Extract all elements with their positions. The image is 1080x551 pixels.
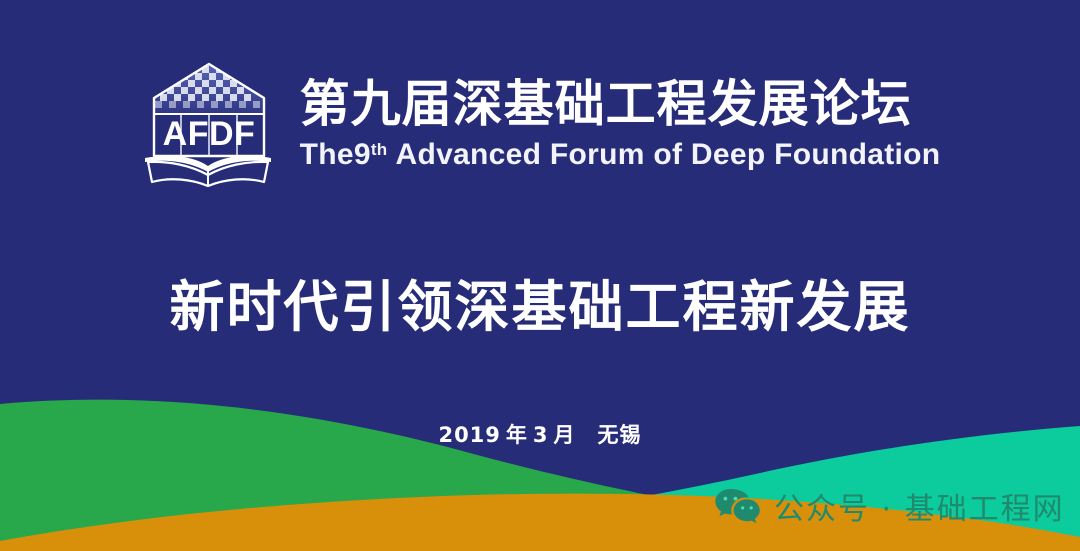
event-title-english-lead: The9 [300,139,371,171]
conference-poster: AFDF 第九届深基础工程发展论坛 The9thAdvanced Forum o… [0,0,1080,551]
wechat-watermark: 公众号 · 基础工程网 [714,484,1065,528]
event-title-chinese: 第九届深基础工程发展论坛 [300,78,912,131]
header-lockup: AFDF 第九届深基础工程发展论坛 The9thAdvanced Forum o… [0,58,1080,188]
event-title-english-rest: Advanced Forum of Deep Foundation [395,139,940,171]
meta-year: 2019 [438,423,500,447]
title-stack: 第九届深基础工程发展论坛 The9thAdvanced Forum of Dee… [300,76,941,171]
afdf-logo-icon: AFDF [140,58,278,188]
svg-text:AFDF: AFDF [162,115,255,153]
date-venue-line: 2019年3月无锡 [0,419,1080,449]
meta-month-unit: 月 [554,423,576,447]
ordinal-suffix: th [371,141,388,159]
meta-city: 无锡 [598,423,642,447]
wechat-icon [714,487,760,525]
watermark-label: 公众号 · 基础工程网 [774,484,1065,528]
meta-month: 3 [533,423,549,447]
event-title-english: The9thAdvanced Forum of Deep Foundation [300,139,941,171]
slogan-headline: 新时代引领深基础工程新发展 [0,262,1080,342]
meta-year-unit: 年 [506,423,528,447]
